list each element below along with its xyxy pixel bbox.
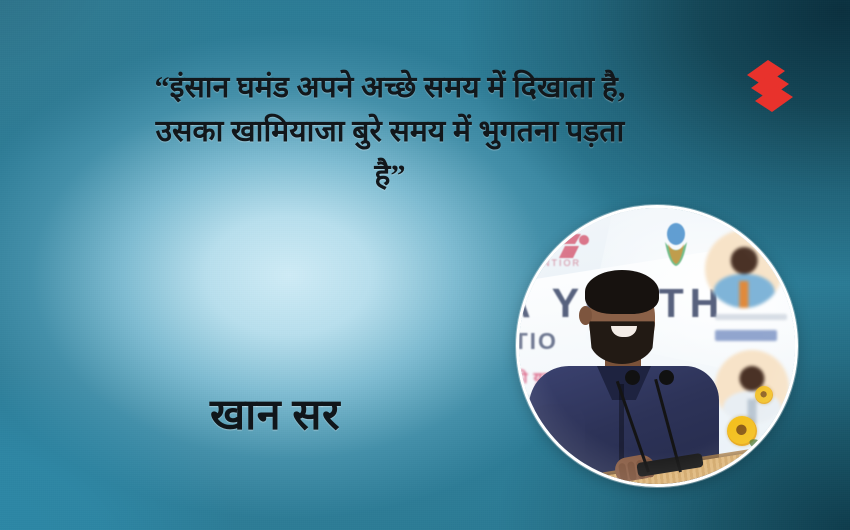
backdrop-subtitle: NTIO [519, 328, 558, 355]
backdrop-portrait-2 [715, 350, 789, 424]
backdrop-portrait-caption [715, 314, 787, 320]
backdrop-portrait-bar [715, 330, 777, 341]
quote-line-2: उसका खामियाजा बुरे समय में भुगतना पड़ता [40, 110, 740, 154]
microphone-head-1 [625, 370, 640, 385]
logo-bars-icon [738, 58, 798, 114]
indian-express-logo [738, 58, 798, 114]
backdrop-logo-caption: NTIOR [543, 258, 581, 268]
portrait-head [731, 247, 758, 274]
speaker-photo: NTIOR A YOUTH NTIO 23 अनूठी युवा सम्मेलन… [516, 205, 798, 487]
sunflower-2 [755, 386, 773, 404]
speaker-arm [523, 404, 585, 484]
quote-line-1: “इंसान घमंड अपने अच्छे समय में दिखाता है… [40, 66, 740, 110]
backdrop-emblem-icon [659, 222, 693, 266]
attribution-name: खान सर [110, 392, 440, 439]
speaker-photo-content: NTIOR A YOUTH NTIO 23 अनूठी युवा सम्मेलन… [519, 208, 795, 484]
quote-card: “इंसान घमंड अपने अच्छे समय में दिखाता है… [0, 0, 850, 530]
quote-text: “इंसान घमंड अपने अच्छे समय में दिखाता है… [40, 66, 740, 198]
portrait-tie [739, 281, 748, 308]
backdrop-portrait-1 [705, 230, 783, 308]
speaker-hair [585, 270, 659, 314]
microphone-head-2 [659, 370, 674, 385]
quote-line-3: है” [40, 154, 740, 198]
sunflower-3 [743, 452, 757, 466]
